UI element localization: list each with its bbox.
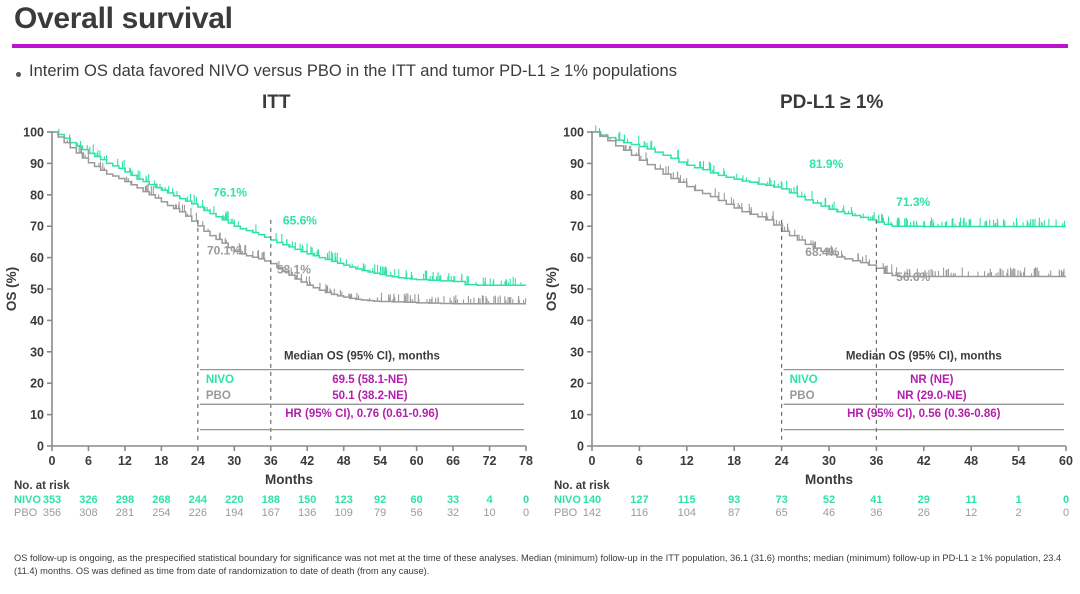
y-tick-label: 40 [570, 314, 584, 328]
risk-count: 93 [728, 494, 740, 506]
risk-count: 356 [43, 507, 61, 519]
stats-median-os-pbo: NR (29.0-NE) [897, 390, 967, 402]
km-plot-pdl1: 0102030405060708090100061218243036424854… [540, 120, 1080, 510]
risk-count: 104 [678, 507, 696, 519]
x-tick-label: 18 [154, 454, 168, 468]
y-tick-label: 80 [570, 188, 584, 202]
y-tick-label: 100 [563, 126, 584, 140]
risk-table-title: No. at risk [14, 480, 70, 492]
curve-annotation: 76.1% [213, 185, 247, 199]
x-tick-label: 0 [589, 454, 596, 468]
y-tick-label: 10 [570, 408, 584, 422]
curve-annotation: 81.9% [809, 157, 843, 171]
risk-count: 26 [918, 507, 930, 519]
risk-count: 92 [374, 494, 386, 506]
risk-row-nivo: NIVO14012711593735241291110 [540, 494, 1080, 507]
y-tick-label: 90 [570, 157, 584, 171]
risk-count: 326 [79, 494, 97, 506]
risk-count: 281 [116, 507, 134, 519]
y-tick-label: 20 [570, 377, 584, 391]
risk-count: 0 [1063, 494, 1069, 506]
y-tick-label: 70 [30, 220, 44, 234]
risk-count: 33 [447, 494, 459, 506]
bullet-row: Interim OS data favored NIVO versus PBO … [16, 62, 1016, 82]
x-tick-label: 54 [373, 454, 387, 468]
x-tick-label: 60 [1059, 454, 1073, 468]
risk-count: 87 [728, 507, 740, 519]
risk-count: 220 [225, 494, 243, 506]
stats-hazard-ratio: HR (95% CI), 0.76 (0.61-0.96) [285, 408, 439, 420]
risk-count: 123 [335, 494, 353, 506]
curve-annotation: 58.1% [277, 262, 311, 276]
x-tick-label: 36 [869, 454, 883, 468]
stats-table-header: Median OS (95% CI), months [284, 351, 440, 363]
risk-count: 140 [583, 494, 601, 506]
y-tick-label: 90 [30, 157, 44, 171]
risk-count: 46 [823, 507, 835, 519]
risk-count: 41 [870, 494, 882, 506]
risk-count: 268 [152, 494, 170, 506]
stats-hazard-ratio: HR (95% CI), 0.56 (0.36-0.86) [847, 408, 1001, 420]
risk-arm-label: PBO [14, 507, 37, 519]
x-tick-label: 60 [410, 454, 424, 468]
bullet-text: Interim OS data favored NIVO versus PBO … [29, 62, 677, 82]
risk-table-pdl1: NIVO14012711593735241291110PBO1421161048… [540, 494, 1080, 520]
risk-count: 60 [410, 494, 422, 506]
risk-count: 0 [523, 494, 529, 506]
y-tick-label: 30 [570, 345, 584, 359]
x-tick-label: 30 [822, 454, 836, 468]
y-axis-label: OS (%) [4, 267, 19, 311]
risk-count: 52 [823, 494, 835, 506]
risk-count: 298 [116, 494, 134, 506]
x-tick-label: 30 [227, 454, 241, 468]
risk-count: 12 [965, 507, 977, 519]
y-tick-label: 70 [570, 220, 584, 234]
risk-count: 308 [79, 507, 97, 519]
x-tick-label: 78 [519, 454, 533, 468]
risk-arm-label: PBO [554, 507, 577, 519]
risk-row-pbo: PBO356308281254226194167136109795632100 [0, 507, 540, 520]
x-tick-label: 42 [917, 454, 931, 468]
y-tick-label: 50 [570, 283, 584, 297]
curve-annotation: 68.4% [805, 245, 839, 259]
censor-ticks-nivo [596, 125, 1065, 226]
risk-count: 2 [1016, 507, 1022, 519]
risk-count: 65 [775, 507, 787, 519]
curve-annotation: 56.6% [896, 270, 930, 284]
slide: Overall survival Interim OS data favored… [0, 0, 1080, 594]
risk-count: 167 [262, 507, 280, 519]
km-curve-nivo [592, 132, 1066, 227]
stats-arm-label-nivo: NIVO [790, 374, 818, 386]
risk-count: 116 [631, 507, 649, 519]
footnote: OS follow-up is ongoing, as the prespeci… [14, 552, 1064, 577]
x-tick-label: 72 [483, 454, 497, 468]
risk-count: 142 [583, 507, 601, 519]
risk-count: 188 [262, 494, 280, 506]
risk-count: 1 [1016, 494, 1022, 506]
risk-count: 109 [335, 507, 353, 519]
y-axis-label: OS (%) [544, 267, 559, 311]
x-tick-label: 18 [727, 454, 741, 468]
chart-panel-itt: ITT 010203040506070809010006121824303642… [0, 92, 540, 542]
y-tick-label: 30 [30, 345, 44, 359]
risk-count: 32 [447, 507, 459, 519]
risk-count: 194 [225, 507, 243, 519]
chart-title-itt: ITT [262, 92, 462, 114]
chart-panel-pdl1: PD-L1 ≥ 1% 01020304050607080901000612182… [540, 92, 1080, 542]
y-tick-label: 60 [30, 251, 44, 265]
x-tick-label: 54 [1012, 454, 1026, 468]
risk-table-title: No. at risk [554, 480, 610, 492]
stats-table-header: Median OS (95% CI), months [846, 351, 1002, 363]
curve-annotation: 71.3% [896, 195, 930, 209]
x-tick-label: 12 [680, 454, 694, 468]
x-tick-label: 66 [446, 454, 460, 468]
y-tick-label: 60 [570, 251, 584, 265]
risk-count: 136 [298, 507, 316, 519]
page-title: Overall survival [14, 2, 233, 36]
y-tick-label: 0 [577, 440, 584, 454]
x-tick-label: 36 [264, 454, 278, 468]
risk-arm-label: NIVO [554, 494, 581, 506]
y-tick-label: 100 [23, 126, 44, 140]
x-tick-label: 24 [191, 454, 205, 468]
stats-arm-label-pbo: PBO [790, 390, 815, 402]
chart-title-pdl1: PD-L1 ≥ 1% [780, 92, 1000, 114]
risk-count: 150 [298, 494, 316, 506]
y-tick-label: 80 [30, 188, 44, 202]
risk-row-pbo: PBO14211610487654636261220 [540, 507, 1080, 520]
x-tick-label: 48 [964, 454, 978, 468]
stats-median-os-pbo: 50.1 (38.2-NE) [332, 390, 408, 402]
risk-table-itt: NIVO35332629826824422018815012392603340P… [0, 494, 540, 520]
risk-count: 244 [189, 494, 207, 506]
stats-arm-label-pbo: PBO [206, 390, 231, 402]
risk-count: 115 [678, 494, 696, 506]
risk-count: 73 [775, 494, 787, 506]
x-tick-label: 0 [49, 454, 56, 468]
risk-count: 4 [486, 494, 492, 506]
title-underline-rule [12, 44, 1068, 48]
risk-count: 36 [870, 507, 882, 519]
stats-median-os-nivo: 69.5 (58.1-NE) [332, 374, 408, 386]
y-tick-label: 10 [30, 408, 44, 422]
y-tick-label: 50 [30, 283, 44, 297]
km-plot-itt: 0102030405060708090100061218243036424854… [0, 120, 540, 510]
risk-count: 10 [483, 507, 495, 519]
bullet-dot-icon [16, 72, 21, 77]
x-axis-label: Months [265, 472, 313, 487]
x-tick-label: 24 [775, 454, 789, 468]
curve-annotation: 65.6% [283, 214, 317, 228]
stats-arm-label-nivo: NIVO [206, 374, 234, 386]
risk-arm-label: NIVO [14, 494, 41, 506]
risk-count: 56 [410, 507, 422, 519]
risk-count: 226 [189, 507, 207, 519]
y-tick-label: 40 [30, 314, 44, 328]
risk-count: 127 [630, 494, 648, 506]
x-axis-label: Months [805, 472, 853, 487]
risk-count: 0 [1063, 507, 1069, 519]
risk-count: 29 [918, 494, 930, 506]
risk-count: 353 [43, 494, 61, 506]
x-tick-label: 6 [636, 454, 643, 468]
x-tick-label: 42 [300, 454, 314, 468]
stats-median-os-nivo: NR (NE) [910, 374, 954, 386]
y-tick-label: 20 [30, 377, 44, 391]
risk-count: 254 [152, 507, 170, 519]
risk-count: 79 [374, 507, 386, 519]
x-tick-label: 48 [337, 454, 351, 468]
curve-annotation: 70.1% [207, 243, 241, 257]
risk-count: 11 [965, 494, 977, 506]
y-tick-label: 0 [37, 440, 44, 454]
x-tick-label: 6 [85, 454, 92, 468]
risk-row-nivo: NIVO35332629826824422018815012392603340 [0, 494, 540, 507]
risk-count: 0 [523, 507, 529, 519]
x-tick-label: 12 [118, 454, 132, 468]
